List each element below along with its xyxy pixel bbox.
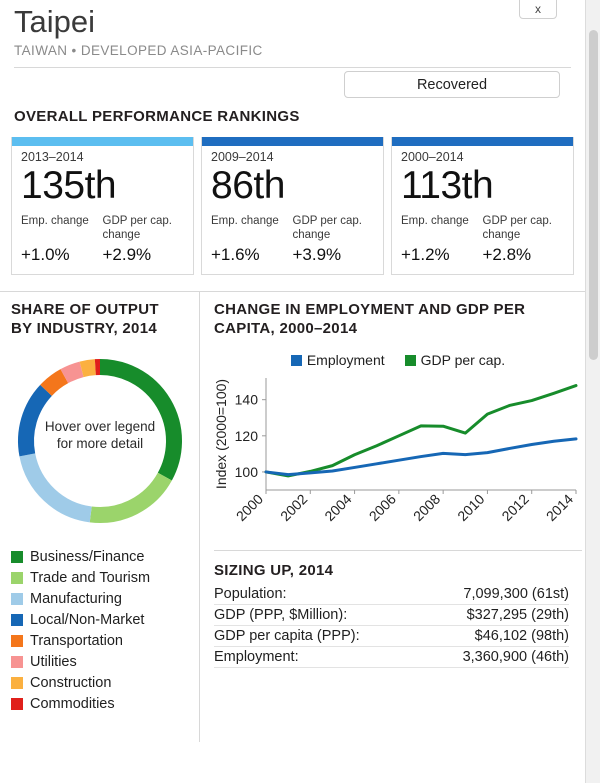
y-axis-tick-label: 140	[235, 392, 259, 408]
legend-label: Trade and Tourism	[30, 570, 150, 586]
y-axis-tick-label: 100	[235, 464, 259, 480]
legend-item-trade-and-tourism[interactable]: Trade and Tourism	[11, 567, 189, 588]
donut-chart[interactable]: Hover over legend for more detail	[11, 352, 189, 530]
metric-value: +3.9%	[293, 245, 375, 265]
legend-label: Transportation	[30, 633, 123, 649]
card-accent-bar	[12, 137, 193, 146]
scrollbar[interactable]	[585, 0, 600, 783]
donut-segment[interactable]	[64, 369, 81, 376]
legend-label: GDP per cap.	[421, 352, 506, 368]
right-panel: CHANGE IN EMPLOYMENT AND GDP PER CAPITA,…	[200, 292, 585, 742]
line-chart-legend: Employment GDP per cap.	[214, 352, 582, 368]
legend-item-commodities[interactable]: Commodities	[11, 693, 189, 714]
rankings-section-title: OVERALL PERFORMANCE RANKINGS	[14, 108, 571, 125]
donut-hint-line2: for more detail	[33, 435, 167, 452]
legend-swatch-icon	[11, 656, 23, 668]
metric-label: GDP per cap. change	[103, 215, 185, 242]
legend-item-employment[interactable]: Employment	[291, 352, 385, 368]
legend-swatch-icon	[11, 593, 23, 605]
sizing-up-table: Population:7,099,300 (61st)GDP (PPP, $Mi…	[214, 584, 569, 668]
metric-value: +2.8%	[483, 245, 565, 265]
legend-label: Construction	[30, 675, 111, 691]
sizing-up-section: SIZING UP, 2014 Population:7,099,300 (61…	[214, 550, 582, 668]
tab-recovered[interactable]: Recovered	[344, 71, 560, 98]
legend-item-business-finance[interactable]: Business/Finance	[11, 546, 189, 567]
x-axis-tick-label: 2010	[454, 491, 487, 524]
x-axis-tick-label: 2008	[410, 491, 443, 524]
legend-swatch-icon	[11, 677, 23, 689]
table-row: Population:7,099,300 (61st)	[214, 584, 569, 605]
close-button[interactable]: x	[519, 0, 557, 19]
share-panel-title-line2: BY INDUSTRY, 2014	[11, 319, 189, 338]
y-axis-tick-label: 120	[235, 428, 259, 444]
metric-emp-change: Emp. change +1.0%	[21, 215, 103, 265]
sizing-up-title: SIZING UP, 2014	[214, 562, 582, 579]
y-axis-label: Index (2000=100)	[214, 379, 229, 489]
sizing-row-label: Employment:	[214, 647, 419, 668]
card-accent-bar	[202, 137, 383, 146]
metric-label: Emp. change	[401, 215, 483, 242]
sizing-row-value: 7,099,300 (61st)	[419, 584, 569, 605]
share-of-output-panel: SHARE OF OUTPUT BY INDUSTRY, 2014 Hover …	[0, 292, 200, 742]
employment-chart-title: CHANGE IN EMPLOYMENT AND GDP PER CAPITA,…	[214, 300, 582, 338]
metric-label: Emp. change	[211, 215, 293, 242]
card-rank: 135th	[21, 163, 184, 209]
metric-value: +2.9%	[103, 245, 185, 265]
x-axis-tick-label: 2000	[233, 491, 266, 524]
legend-swatch-icon	[11, 698, 23, 710]
card-accent-bar	[392, 137, 573, 146]
donut-segment[interactable]	[46, 376, 64, 390]
legend-label: Utilities	[30, 654, 77, 670]
legend-label: Employment	[307, 352, 385, 368]
city-profile-panel: x Taipei TAIWAN • DEVELOPED ASIA-PACIFIC…	[0, 0, 585, 783]
card-period: 2013–2014	[21, 150, 184, 164]
x-axis-tick-label: 2002	[277, 491, 310, 524]
table-row: Employment:3,360,900 (46th)	[214, 647, 569, 668]
legend-label: Business/Finance	[30, 549, 144, 565]
donut-segment[interactable]	[27, 455, 90, 515]
line-series-gdp-per-cap[interactable]	[266, 386, 576, 476]
table-row: GDP (PPP, $Million):$327,295 (29th)	[214, 605, 569, 626]
metric-label: GDP per cap. change	[483, 215, 565, 242]
line-chart[interactable]: 100120140Index (2000=100)200020022004200…	[214, 370, 582, 545]
tab-bar: Recovered	[14, 67, 571, 105]
card-rank: 113th	[401, 163, 564, 209]
x-axis-tick-label: 2012	[498, 491, 531, 524]
employment-chart-title-line1: CHANGE IN EMPLOYMENT AND GDP PER	[214, 300, 582, 319]
metric-gdp-change: GDP per cap. change +2.8%	[483, 215, 565, 265]
legend-swatch-icon	[11, 551, 23, 563]
sizing-row-label: Population:	[214, 584, 419, 605]
legend-label: Commodities	[30, 696, 115, 712]
card-rank: 86th	[211, 163, 374, 209]
legend-swatch-icon	[11, 635, 23, 647]
metric-label: Emp. change	[21, 215, 103, 242]
x-axis-tick-label: 2004	[321, 491, 354, 524]
legend-item-construction[interactable]: Construction	[11, 672, 189, 693]
table-row: GDP per capita (PPP):$46,102 (98th)	[214, 626, 569, 647]
metric-emp-change: Emp. change +1.2%	[401, 215, 483, 265]
sizing-row-value: 3,360,900 (46th)	[419, 647, 569, 668]
ranking-card[interactable]: 2013–2014 135th Emp. change +1.0% GDP pe…	[11, 137, 194, 275]
employment-chart-title-line2: CAPITA, 2000–2014	[214, 319, 582, 338]
legend-label: Local/Non-Market	[30, 612, 144, 628]
sizing-row-label: GDP (PPP, $Million):	[214, 605, 419, 626]
share-panel-title: SHARE OF OUTPUT BY INDUSTRY, 2014	[11, 300, 189, 338]
card-period: 2009–2014	[211, 150, 374, 164]
donut-segment[interactable]	[91, 477, 165, 515]
sizing-row-value: $46,102 (98th)	[419, 626, 569, 647]
metric-label: GDP per cap. change	[293, 215, 375, 242]
legend-swatch-icon	[11, 572, 23, 584]
region-subtitle: TAIWAN • DEVELOPED ASIA-PACIFIC	[14, 43, 571, 58]
legend-item-transportation[interactable]: Transportation	[11, 630, 189, 651]
header: Taipei TAIWAN • DEVELOPED ASIA-PACIFIC R…	[0, 0, 585, 125]
metric-gdp-change: GDP per cap. change +2.9%	[103, 215, 185, 265]
metric-value: +1.6%	[211, 245, 293, 265]
x-axis-tick-label: 2014	[543, 491, 576, 524]
sizing-row-value: $327,295 (29th)	[419, 605, 569, 626]
share-panel-title-line1: SHARE OF OUTPUT	[11, 300, 189, 319]
card-period: 2000–2014	[401, 150, 564, 164]
line-chart-svg: 100120140Index (2000=100)200020022004200…	[214, 370, 582, 545]
legend-item-local-non-market[interactable]: Local/Non-Market	[11, 609, 189, 630]
scrollbar-thumb[interactable]	[589, 30, 598, 360]
ranking-card[interactable]: 2009–2014 86th Emp. change +1.6% GDP per…	[201, 137, 384, 275]
sizing-row-label: GDP per capita (PPP):	[214, 626, 419, 647]
lower-section: SHARE OF OUTPUT BY INDUSTRY, 2014 Hover …	[0, 291, 585, 742]
legend-swatch-icon	[291, 355, 302, 366]
industry-legend: Business/FinanceTrade and TourismManufac…	[11, 546, 189, 714]
metric-gdp-change: GDP per cap. change +3.9%	[293, 215, 375, 265]
legend-swatch-icon	[11, 614, 23, 626]
donut-segment[interactable]	[82, 367, 96, 369]
legend-item-manufacturing[interactable]: Manufacturing	[11, 588, 189, 609]
legend-swatch-icon	[405, 355, 416, 366]
metric-emp-change: Emp. change +1.6%	[211, 215, 293, 265]
donut-hint-line1: Hover over legend	[33, 418, 167, 435]
ranking-card[interactable]: 2000–2014 113th Emp. change +1.2% GDP pe…	[391, 137, 574, 275]
x-axis-tick-label: 2006	[366, 491, 399, 524]
donut-center-hint: Hover over legend for more detail	[33, 418, 167, 452]
legend-item-gdp-per-cap[interactable]: GDP per cap.	[405, 352, 506, 368]
metric-value: +1.0%	[21, 245, 103, 265]
metric-value: +1.2%	[401, 245, 483, 265]
page-title: Taipei	[14, 4, 571, 40]
legend-item-utilities[interactable]: Utilities	[11, 651, 189, 672]
ranking-cards: 2013–2014 135th Emp. change +1.0% GDP pe…	[0, 137, 585, 275]
legend-label: Manufacturing	[30, 591, 122, 607]
